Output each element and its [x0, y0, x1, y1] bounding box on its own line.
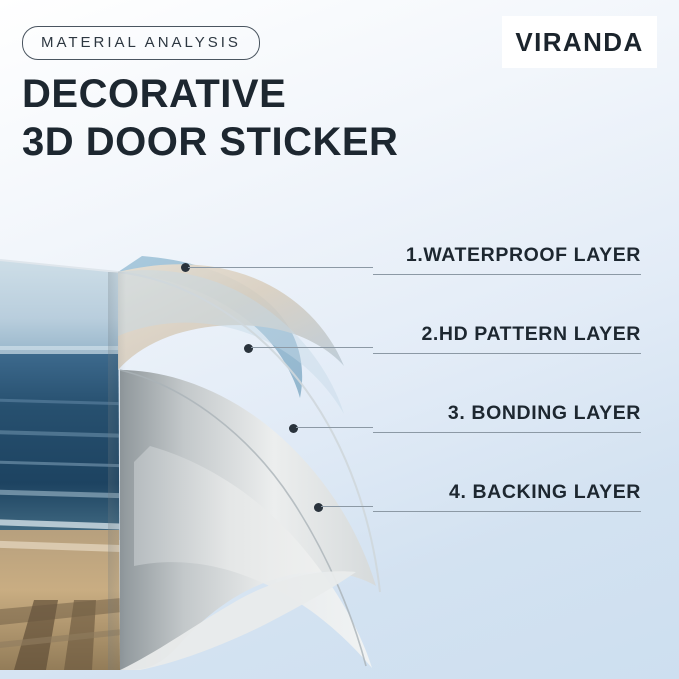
callout-dot-2 — [244, 344, 253, 353]
callout-leader-4 — [321, 506, 373, 507]
callout-rule-1 — [373, 274, 641, 275]
callout-rule-4 — [373, 511, 641, 512]
callout-label-2: 2.HD PATTERN LAYER — [421, 323, 641, 346]
eyebrow-badge: MATERIAL ANALYSIS — [22, 26, 260, 60]
page-title-line-1: DECORATIVE — [22, 70, 398, 118]
callout-label-3: 3. BONDING LAYER — [448, 402, 641, 425]
callout-dot-3 — [289, 424, 298, 433]
callout-leader-2 — [251, 347, 373, 348]
callout-label-4: 4. BACKING LAYER — [449, 481, 641, 504]
callout-leader-1 — [188, 267, 373, 268]
callout-leader-3 — [296, 427, 373, 428]
sheet-inner-shadow — [108, 272, 126, 670]
page-title: DECORATIVE 3D DOOR STICKER — [22, 70, 398, 166]
sticker-layers-illustration — [0, 200, 440, 670]
callout-rule-3 — [373, 432, 641, 433]
brand-logo-box: VIRANDA — [502, 16, 657, 68]
callout-dot-4 — [314, 503, 323, 512]
poster-canvas: MATERIAL ANALYSIS DECORATIVE 3D DOOR STI… — [0, 0, 679, 679]
brand-name: VIRANDA — [515, 27, 643, 58]
callout-rule-2 — [373, 353, 641, 354]
page-title-line-2: 3D DOOR STICKER — [22, 118, 398, 166]
callout-label-1: 1.WATERPROOF LAYER — [406, 244, 641, 267]
